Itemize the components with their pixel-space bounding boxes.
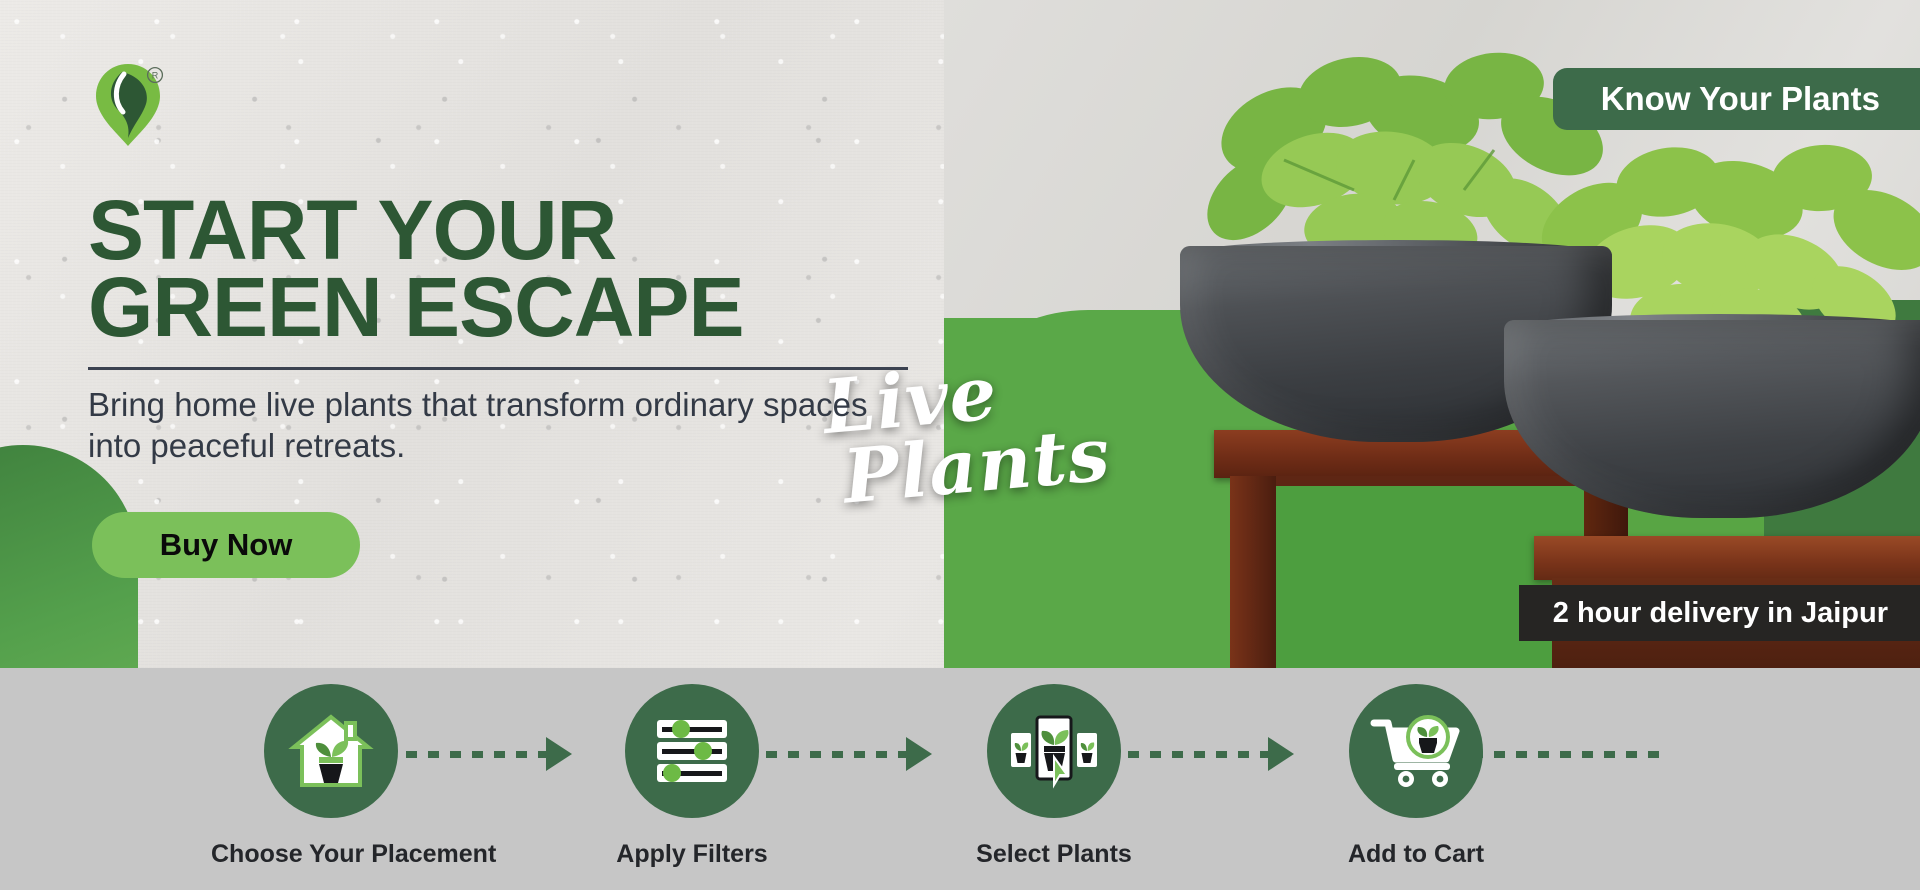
svg-text:R: R — [152, 71, 159, 81]
step-add-to-cart[interactable]: Add to Cart — [1296, 684, 1536, 869]
shopping-cart-plant-icon — [1370, 711, 1462, 791]
step-3-icon-circle — [987, 684, 1121, 818]
connector-arrow-icon — [1268, 737, 1294, 771]
hero-section: Live Plants R START YOUR GREEN ESCAPE Br… — [0, 0, 1920, 668]
connector-arrow-icon — [906, 737, 932, 771]
step-4-label: Add to Cart — [1296, 840, 1536, 869]
connector-arrow-icon — [546, 737, 572, 771]
step-4-icon-circle — [1349, 684, 1483, 818]
delivery-badge: 2 hour delivery in Jaipur — [1519, 585, 1920, 641]
know-your-plants-badge[interactable]: Know Your Plants — [1553, 68, 1920, 130]
house-with-plant-icon — [288, 711, 374, 791]
hero-subtext: Bring home live plants that transform or… — [88, 384, 878, 467]
step-apply-filters[interactable]: Apply Filters — [572, 684, 812, 869]
headline-line-1: START YOUR — [88, 192, 918, 269]
registered-trademark-icon: R — [146, 66, 164, 84]
sliders-filter-icon — [653, 712, 731, 790]
step-2-icon-circle — [625, 684, 759, 818]
step-1-icon-circle — [264, 684, 398, 818]
wooden-table-top-2 — [1534, 536, 1920, 580]
step-2-label: Apply Filters — [572, 840, 812, 869]
headline-line-2: GREEN ESCAPE — [88, 269, 918, 346]
table-leg-left — [1230, 476, 1276, 668]
page-title: START YOUR GREEN ESCAPE — [88, 192, 918, 347]
plant-cards-cursor-icon — [1009, 711, 1099, 791]
buy-now-button[interactable]: Buy Now — [92, 512, 360, 578]
process-steps-bar: Choose Your Placement — [0, 668, 1920, 890]
step-3-label: Select Plants — [934, 840, 1174, 869]
brand-logo[interactable]: R — [92, 62, 170, 148]
step-1-label: Choose Your Placement — [211, 840, 451, 869]
headline-divider — [88, 367, 908, 370]
promo-banner-screen: Live Plants R START YOUR GREEN ESCAPE Br… — [0, 0, 1920, 890]
step-choose-your-placement[interactable]: Choose Your Placement — [211, 684, 451, 869]
step-select-plants[interactable]: Select Plants — [934, 684, 1174, 869]
hero-copy-block: START YOUR GREEN ESCAPE Bring home live … — [88, 192, 918, 466]
